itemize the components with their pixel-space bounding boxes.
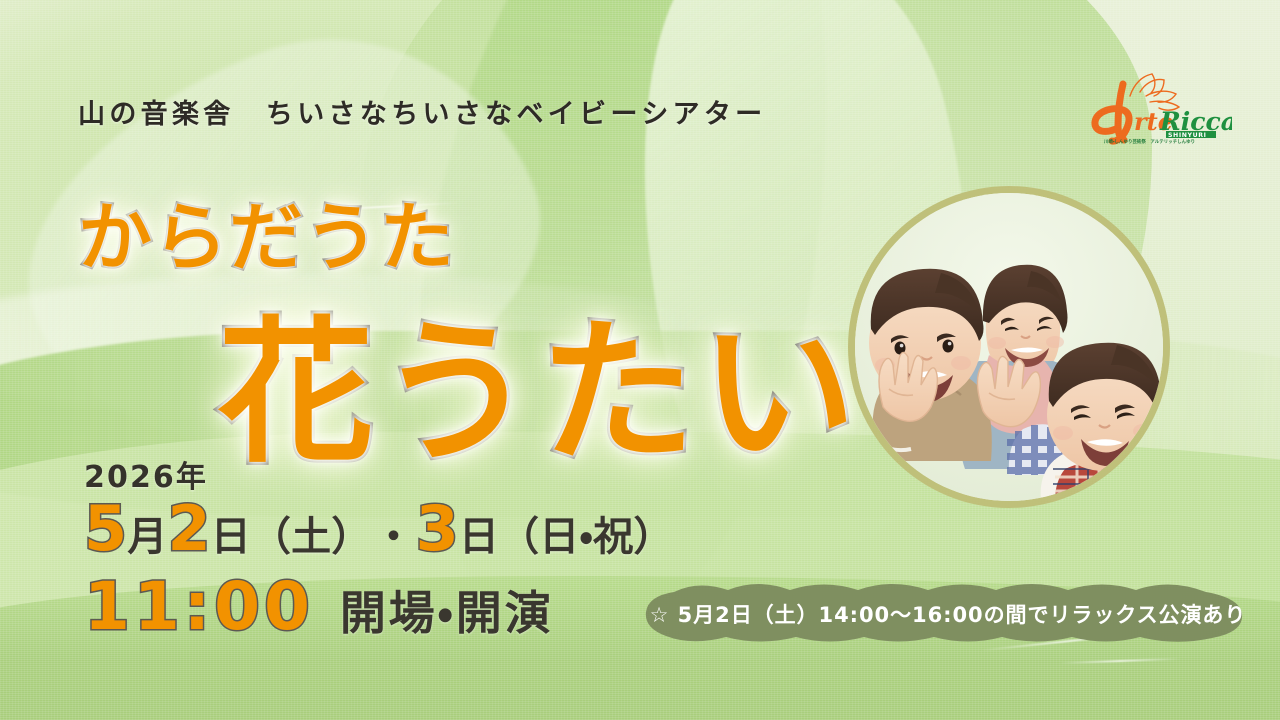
date-separator: ・ [373, 517, 413, 557]
wheat-sprig-icon [1130, 74, 1179, 110]
day1-label: 日（土） [211, 517, 372, 557]
baby-left [869, 269, 992, 461]
day2-label: 日（日・祝） [459, 517, 674, 557]
time-label: 開場・開演 [340, 590, 553, 636]
time-row: 11:00 開場・開演 [84, 574, 673, 640]
schedule-block: 2026年 5 月 2 日（土） ・ 3 日（日・祝） 11:00 開場・開演 [84, 452, 673, 640]
year-label: 2026年 [84, 452, 673, 496]
series-title: 山の音楽舎 ちいさなちいさなベイビーシアター [78, 92, 767, 131]
photo-mask [855, 193, 1163, 501]
day1-number: 2 [167, 498, 210, 560]
date-row: 5 月 2 日（土） ・ 3 日（日・祝） [84, 498, 673, 560]
logo-artwork: rte Ricca SHINYURI [1068, 62, 1232, 146]
banner-text: ☆ 5月2日（土）14:00〜16:00の間でリラックス公演あり [640, 584, 1256, 644]
relax-performance-banner: ☆ 5月2日（土）14:00〜16:00の間でリラックス公演あり [640, 584, 1256, 644]
poster-canvas: 山の音楽舎 ちいさなちいさなベイビーシアター rte Ricca [0, 0, 1280, 720]
start-time: 11:00 [84, 574, 314, 640]
logo-word-shinyuri: SHINYURI [1168, 132, 1207, 139]
day2-number: 3 [416, 498, 459, 560]
background-vein-3 [1060, 658, 1180, 664]
babies-photo-illustration [855, 193, 1163, 501]
photo-circle [848, 186, 1170, 508]
arte-ricca-logo: rte Ricca SHINYURI 川崎・しんゆり芸術祭 アルテリッチしんゆり [1068, 62, 1232, 146]
logo-micro-text: 川崎・しんゆり芸術祭 アルテリッチしんゆり [1104, 139, 1195, 145]
month-number: 5 [84, 498, 127, 560]
month-label: 月 [127, 517, 167, 557]
